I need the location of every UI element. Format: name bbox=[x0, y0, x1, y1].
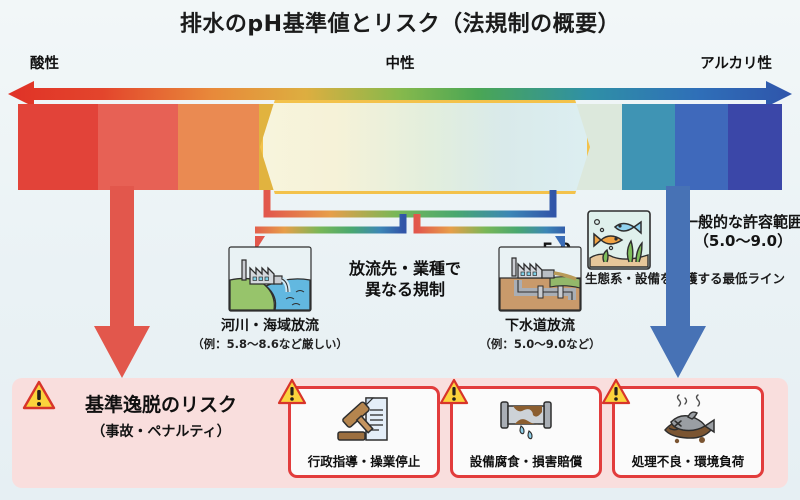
branch-river-note: （例：5.8〜8.6など厳しい） bbox=[186, 336, 354, 352]
risk-heading-block: 基準逸脱のリスク （事故・ペナルティ） bbox=[46, 394, 276, 441]
warning-triangle-icon bbox=[277, 378, 307, 405]
acid-risk-arrow bbox=[92, 186, 152, 380]
branch-sewer-title: 下水道放流 bbox=[456, 315, 624, 335]
risk-card-corrosion[interactable]: 設備腐食・損害賠償 bbox=[450, 386, 602, 478]
warning-triangle-icon bbox=[601, 378, 631, 405]
acceptable-range-content: 5.0 9.0 一般的な許容範囲 （5.0〜9.0） 生態系・設備を保護する最低… bbox=[260, 100, 590, 194]
band-ph-8 bbox=[728, 104, 781, 190]
risk-subheading: （事故・ペナルティ） bbox=[46, 421, 276, 441]
hex-range: （5.0〜9.0） bbox=[694, 232, 792, 250]
risk-card-environment[interactable]: 処理不良・環境負荷 bbox=[612, 386, 764, 478]
band-ph-7 bbox=[675, 104, 728, 190]
branch-sewer-discharge: 下水道放流 （例：5.0〜9.0など） bbox=[456, 246, 624, 352]
branch-river-discharge: 河川・海域放流 （例：5.8〜8.6など厳しい） bbox=[186, 246, 354, 352]
scale-label-neutral: 中性 bbox=[0, 52, 800, 73]
band-ph-0 bbox=[18, 104, 98, 190]
regulation-note-line2: 異なる規制 bbox=[365, 280, 445, 299]
dead-fish-sludge-icon bbox=[657, 394, 719, 446]
corroded-pipe-icon bbox=[495, 394, 557, 446]
branch-river-title: 河川・海域放流 bbox=[186, 315, 354, 335]
alkali-risk-arrow bbox=[648, 186, 708, 380]
risk-heading: 基準逸脱のリスク bbox=[46, 394, 276, 417]
risk-card-admin[interactable]: 行政指導・操業停止 bbox=[288, 386, 440, 478]
risk-card-environment-label: 処理不良・環境負荷 bbox=[615, 451, 761, 470]
band-ph-2 bbox=[178, 104, 258, 190]
factory-river-discharge-icon bbox=[228, 246, 312, 312]
infographic-canvas: 排水のpH基準値とリスク（法規制の概要） 酸性 中性 アルカリ性 bbox=[0, 0, 800, 500]
regulation-note-line1: 放流先・業種で bbox=[349, 259, 461, 278]
band-ph-6 bbox=[622, 104, 675, 190]
factory-sewer-pipe-icon bbox=[498, 246, 582, 312]
gavel-document-icon bbox=[333, 394, 395, 446]
page-title: 排水のpH基準値とリスク（法規制の概要） bbox=[0, 6, 800, 38]
risk-card-admin-label: 行政指導・操業停止 bbox=[291, 451, 437, 470]
band-ph-1 bbox=[98, 104, 178, 190]
branch-sewer-note: （例：5.0〜9.0など） bbox=[456, 336, 624, 352]
risk-card-corrosion-label: 設備腐食・損害賠償 bbox=[453, 451, 599, 470]
scale-label-alkali: アルカリ性 bbox=[700, 52, 772, 73]
warning-triangle-icon bbox=[439, 378, 469, 405]
